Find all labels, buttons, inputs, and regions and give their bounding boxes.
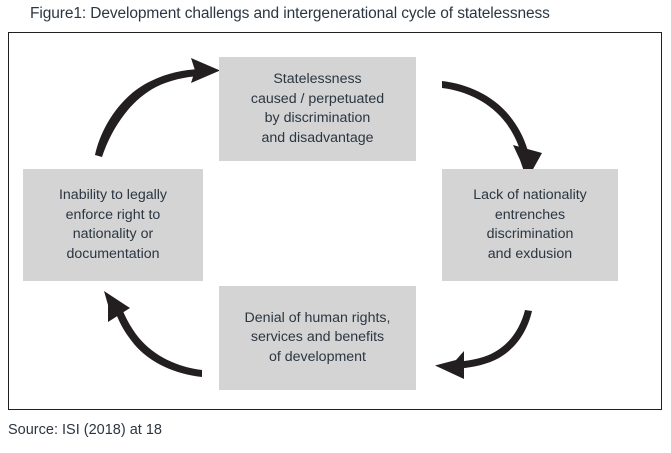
cycle-node-lack-of-nationality-label: Lack of nationality entrenches discrimin… <box>473 186 587 264</box>
cycle-diagram: Statelessness caused / perpetuated by di… <box>9 33 661 409</box>
arrow-bottom-to-left-icon <box>104 291 202 377</box>
figure-title: Figure1: Development challengs and inter… <box>30 4 650 24</box>
cycle-node-inability-to-enforce: Inability to legally enforce right to na… <box>23 169 203 281</box>
cycle-node-lack-of-nationality: Lack of nationality entrenches discrimin… <box>442 169 618 281</box>
cycle-node-inability-to-enforce-label: Inability to legally enforce right to na… <box>59 186 167 264</box>
source-caption: Source: ISI (2018) at 18 <box>8 420 162 440</box>
cycle-node-denial-of-rights-label: Denial of human rights, services and ben… <box>245 309 391 368</box>
arrow-left-to-top-icon <box>95 58 220 157</box>
cycle-node-statelessness: Statelessness caused / perpetuated by di… <box>219 57 416 161</box>
arrow-top-to-right-icon <box>442 81 542 180</box>
arrow-right-to-bottom-icon <box>435 310 532 379</box>
figure-frame: Statelessness caused / perpetuated by di… <box>8 32 662 410</box>
cycle-node-statelessness-label: Statelessness caused / perpetuated by di… <box>251 70 384 148</box>
cycle-node-denial-of-rights: Denial of human rights, services and ben… <box>219 286 416 390</box>
